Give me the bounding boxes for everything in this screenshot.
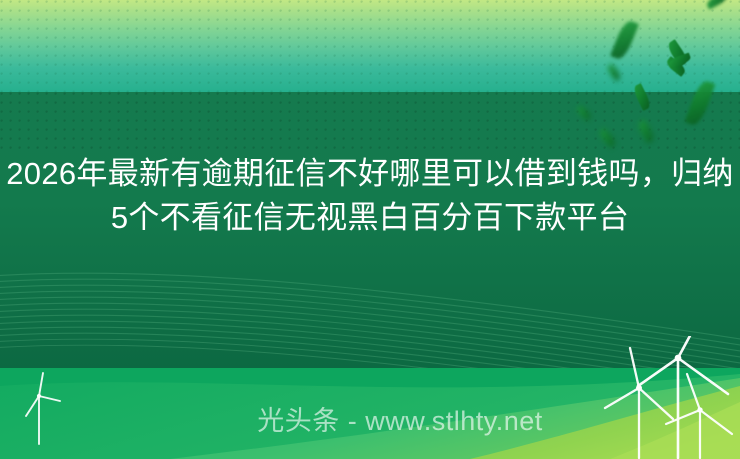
body-dot-texture — [0, 92, 740, 154]
wind-turbine-icon — [648, 368, 734, 459]
page-title: 2026年最新有逾期征信不好哪里可以借到钱吗，归纳5个不看征信无视黑白百分百下款… — [0, 152, 740, 240]
poster-canvas: 2026年最新有逾期征信不好哪里可以借到钱吗，归纳5个不看征信无视黑白百分百下款… — [0, 0, 740, 459]
wind-turbine-icon — [24, 372, 64, 446]
